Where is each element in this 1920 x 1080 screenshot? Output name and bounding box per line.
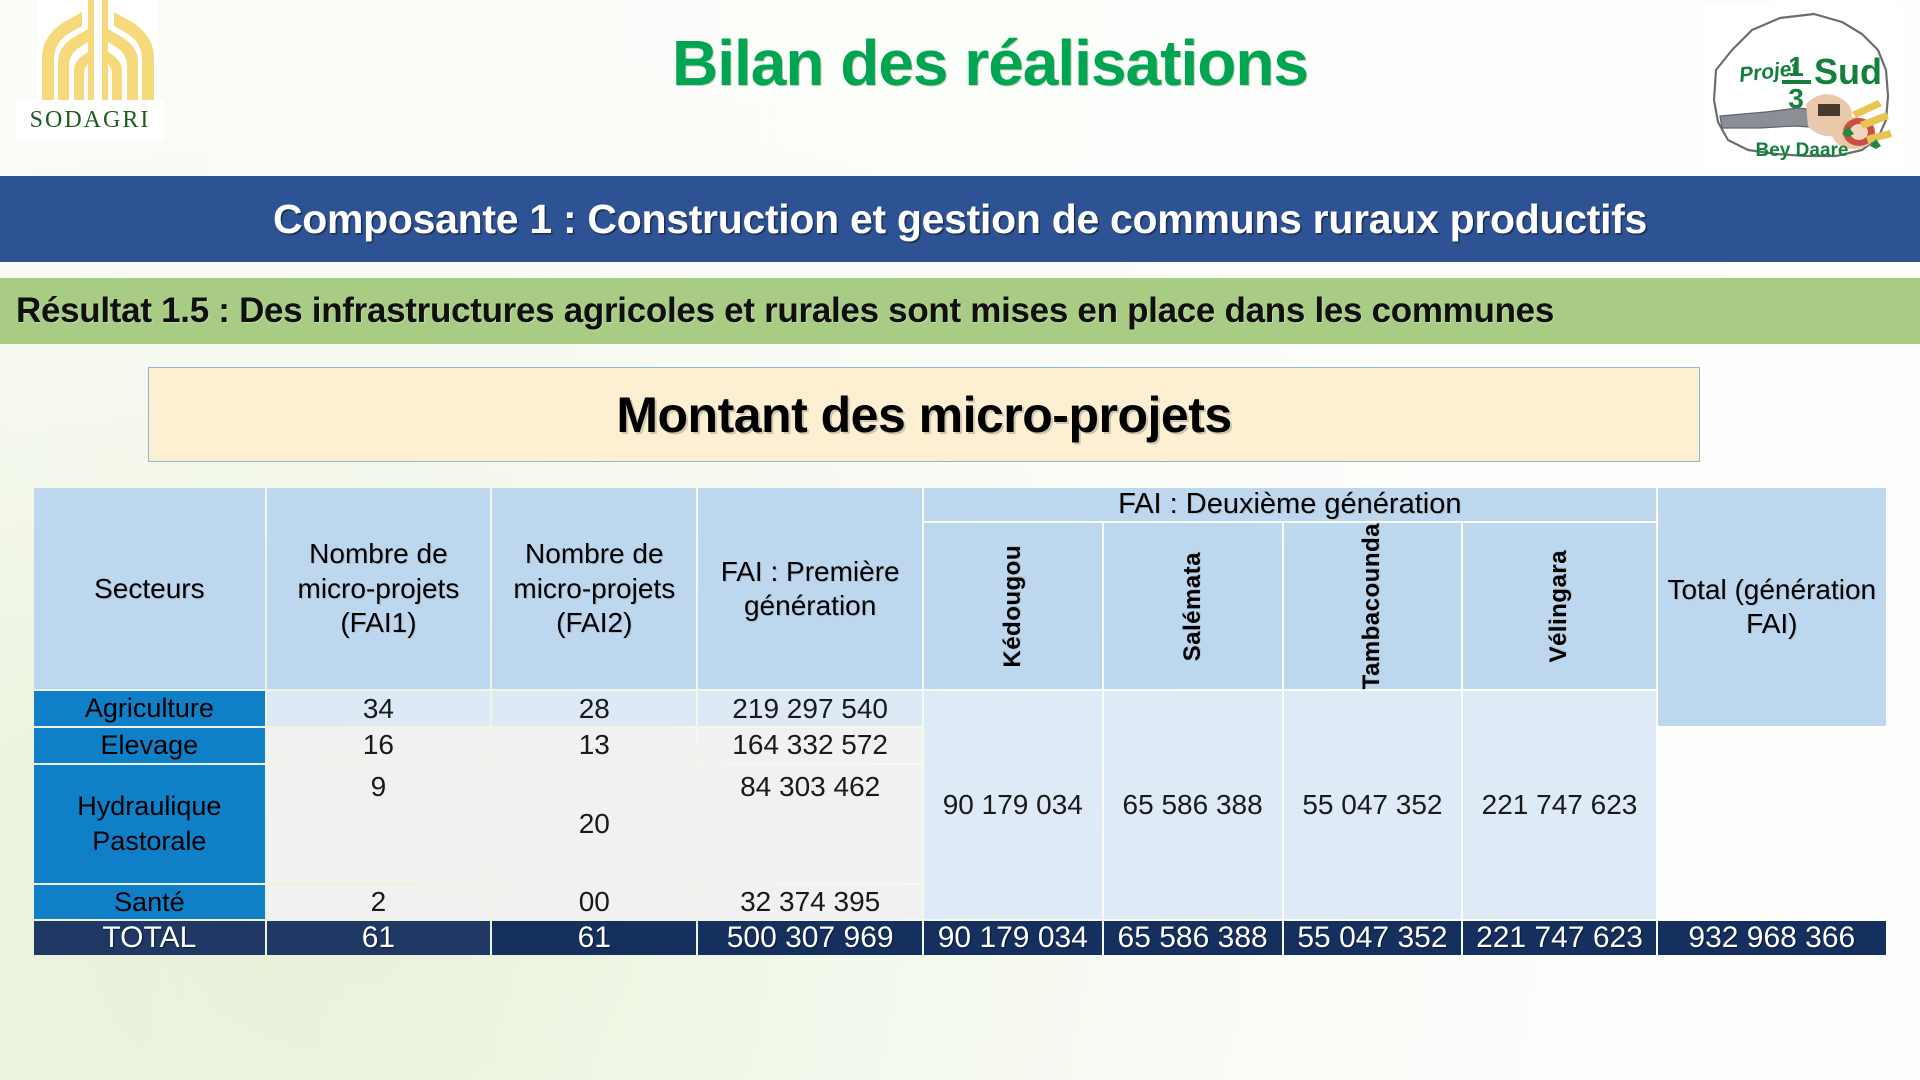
row-sector-elevage: Elevage xyxy=(34,728,265,763)
svg-text:3: 3 xyxy=(1788,83,1804,114)
cell-sante-fai2: 00 xyxy=(492,885,696,920)
cell-elevage-fai2: 13 xyxy=(492,728,696,763)
row-sector-sante: Santé xyxy=(34,885,265,920)
header-total-generation-fai: Total (génération FAI) xyxy=(1658,488,1886,726)
projet-un-tiers-sud-logo-icon: Projet 1 3 Sud Bey Daare xyxy=(1702,4,1902,168)
cell-gen2-tambacounda: 55 047 352 xyxy=(1284,691,1462,919)
header-commune-salemata-label: Salémata xyxy=(1179,552,1207,661)
cell-sante-premiere: 32 374 395 xyxy=(698,885,921,920)
header-commune-salemata: Salémata xyxy=(1104,523,1282,689)
header-nb-fai1: Nombre de micro-projets (FAI1) xyxy=(267,488,490,689)
svg-text:Bey Daare: Bey Daare xyxy=(1756,140,1849,161)
micro-projects-table: Secteurs Nombre de micro-projets (FAI1) … xyxy=(32,486,1888,957)
header-commune-kedougou-label: Kédougou xyxy=(999,545,1027,668)
header-commune-tambacounda-label: Tambacounda xyxy=(1358,523,1386,689)
total-tambacounda: 55 047 352 xyxy=(1284,921,1462,955)
slide-header: SODAGRI Bilan des réalisations xyxy=(0,0,1920,176)
table-total-row: TOTAL 61 61 500 307 969 90 179 034 65 58… xyxy=(34,921,1886,955)
cell-gen2-velingara: 221 747 623 xyxy=(1463,691,1655,919)
cell-agriculture-fai2: 28 xyxy=(492,691,696,726)
total-velingara: 221 747 623 xyxy=(1463,921,1655,955)
sodagri-logo-icon xyxy=(38,0,158,100)
row-sector-agriculture: Agriculture xyxy=(34,691,265,726)
cell-elevage-premiere: 164 332 572 xyxy=(698,728,921,763)
header-nb-fai2: Nombre de micro-projets (FAI2) xyxy=(492,488,696,689)
result-band: Résultat 1.5 : Des infrastructures agric… xyxy=(0,278,1920,344)
table-header-row-1: Secteurs Nombre de micro-projets (FAI1) … xyxy=(34,488,1886,521)
cell-agriculture-premiere: 219 297 540 xyxy=(698,691,921,726)
sodagri-logo: SODAGRI xyxy=(38,0,158,140)
cell-gen2-kedougou: 90 179 034 xyxy=(924,691,1102,919)
total-salemata: 65 586 388 xyxy=(1104,921,1282,955)
page-title: Bilan des réalisations xyxy=(300,28,1680,98)
header-secteurs: Secteurs xyxy=(34,488,265,689)
cell-sante-fai1: 2 xyxy=(267,885,490,920)
cell-hydraulique-fai2: 20 xyxy=(492,765,696,883)
header-commune-kedougou: Kédougou xyxy=(924,523,1102,689)
sodagri-logo-text: SODAGRI xyxy=(16,100,164,140)
table-row: Agriculture 34 28 219 297 540 90 179 034… xyxy=(34,691,1886,726)
total-grand: 932 968 366 xyxy=(1658,921,1886,955)
section-title-box: Montant des micro-projets xyxy=(148,367,1700,462)
svg-text:1: 1 xyxy=(1788,51,1804,82)
cell-hydraulique-fai1: 9 xyxy=(267,765,490,883)
header-commune-velingara-label: Vélingara xyxy=(1545,550,1573,663)
section-title-text: Montant des micro-projets xyxy=(616,386,1231,444)
component-band: Composante 1 : Construction et gestion d… xyxy=(0,176,1920,262)
cell-gen2-salemata: 65 586 388 xyxy=(1104,691,1282,919)
slide-canvas: SODAGRI Bilan des réalisations xyxy=(0,0,1920,1080)
svg-text:Sud: Sud xyxy=(1814,51,1882,92)
header-fai-deuxieme: FAI : Deuxième génération xyxy=(924,488,1656,521)
cell-elevage-fai1: 16 xyxy=(267,728,490,763)
header-commune-tambacounda: Tambacounda xyxy=(1284,523,1462,689)
total-fai1: 61 xyxy=(267,921,490,955)
header-fai-premiere: FAI : Première génération xyxy=(698,488,921,689)
cell-agriculture-fai1: 34 xyxy=(267,691,490,726)
cell-hydraulique-premiere: 84 303 462 xyxy=(698,765,921,883)
component-band-text: Composante 1 : Construction et gestion d… xyxy=(273,196,1647,243)
total-premiere: 500 307 969 xyxy=(698,921,921,955)
total-label: TOTAL xyxy=(34,921,265,955)
micro-projects-table-container: Secteurs Nombre de micro-projets (FAI1) … xyxy=(32,486,1888,957)
row-sector-hydraulique-pastorale: Hydraulique Pastorale xyxy=(34,765,265,883)
result-band-text: Résultat 1.5 : Des infrastructures agric… xyxy=(0,291,1554,331)
total-fai2: 61 xyxy=(492,921,696,955)
header-commune-velingara: Vélingara xyxy=(1463,523,1655,689)
total-kedougou: 90 179 034 xyxy=(924,921,1102,955)
